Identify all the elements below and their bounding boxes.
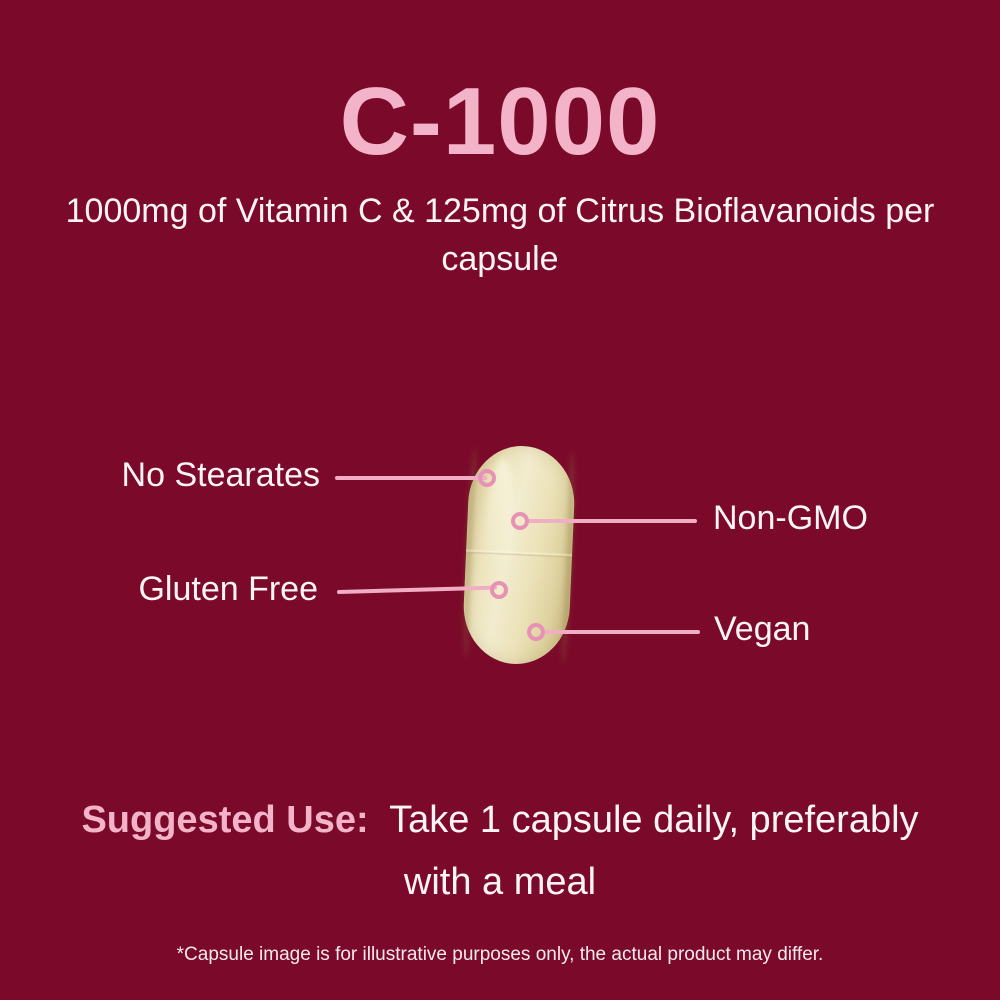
disclaimer-footnote: *Capsule image is for illustrative purpo… — [0, 944, 1000, 966]
callout-label-vegan: Vegan — [714, 612, 810, 646]
product-subtitle: 1000mg of Vitamin C & 125mg of Citrus Bi… — [30, 173, 970, 284]
capsule-diagram: No Stearates Non-GMO Gluten Free Vegan — [0, 400, 1000, 720]
callout-line-vegan — [544, 630, 700, 634]
callout-dot-vegan — [527, 623, 545, 641]
callout-label-no-stearates: No Stearates — [122, 458, 320, 492]
callout-label-gluten-free: Gluten Free — [138, 572, 318, 606]
suggested-use-text: Take 1 capsule daily, preferably with a … — [389, 799, 918, 903]
callout-line-no-stearates — [335, 476, 487, 480]
callout-dot-no-stearates — [478, 469, 496, 487]
callout-dot-gluten-free — [490, 581, 508, 599]
header: C-1000 1000mg of Vitamin C & 125mg of Ci… — [0, 0, 1000, 283]
callout-label-non-gmo: Non-GMO — [713, 501, 868, 535]
suggested-use-section: Suggested Use: Take 1 capsule daily, pre… — [0, 790, 1000, 913]
callout-line-non-gmo — [528, 519, 697, 523]
page-title: C-1000 — [0, 0, 1000, 173]
callout-dot-non-gmo — [511, 512, 529, 530]
suggested-use-label: Suggested Use: — [81, 799, 368, 841]
